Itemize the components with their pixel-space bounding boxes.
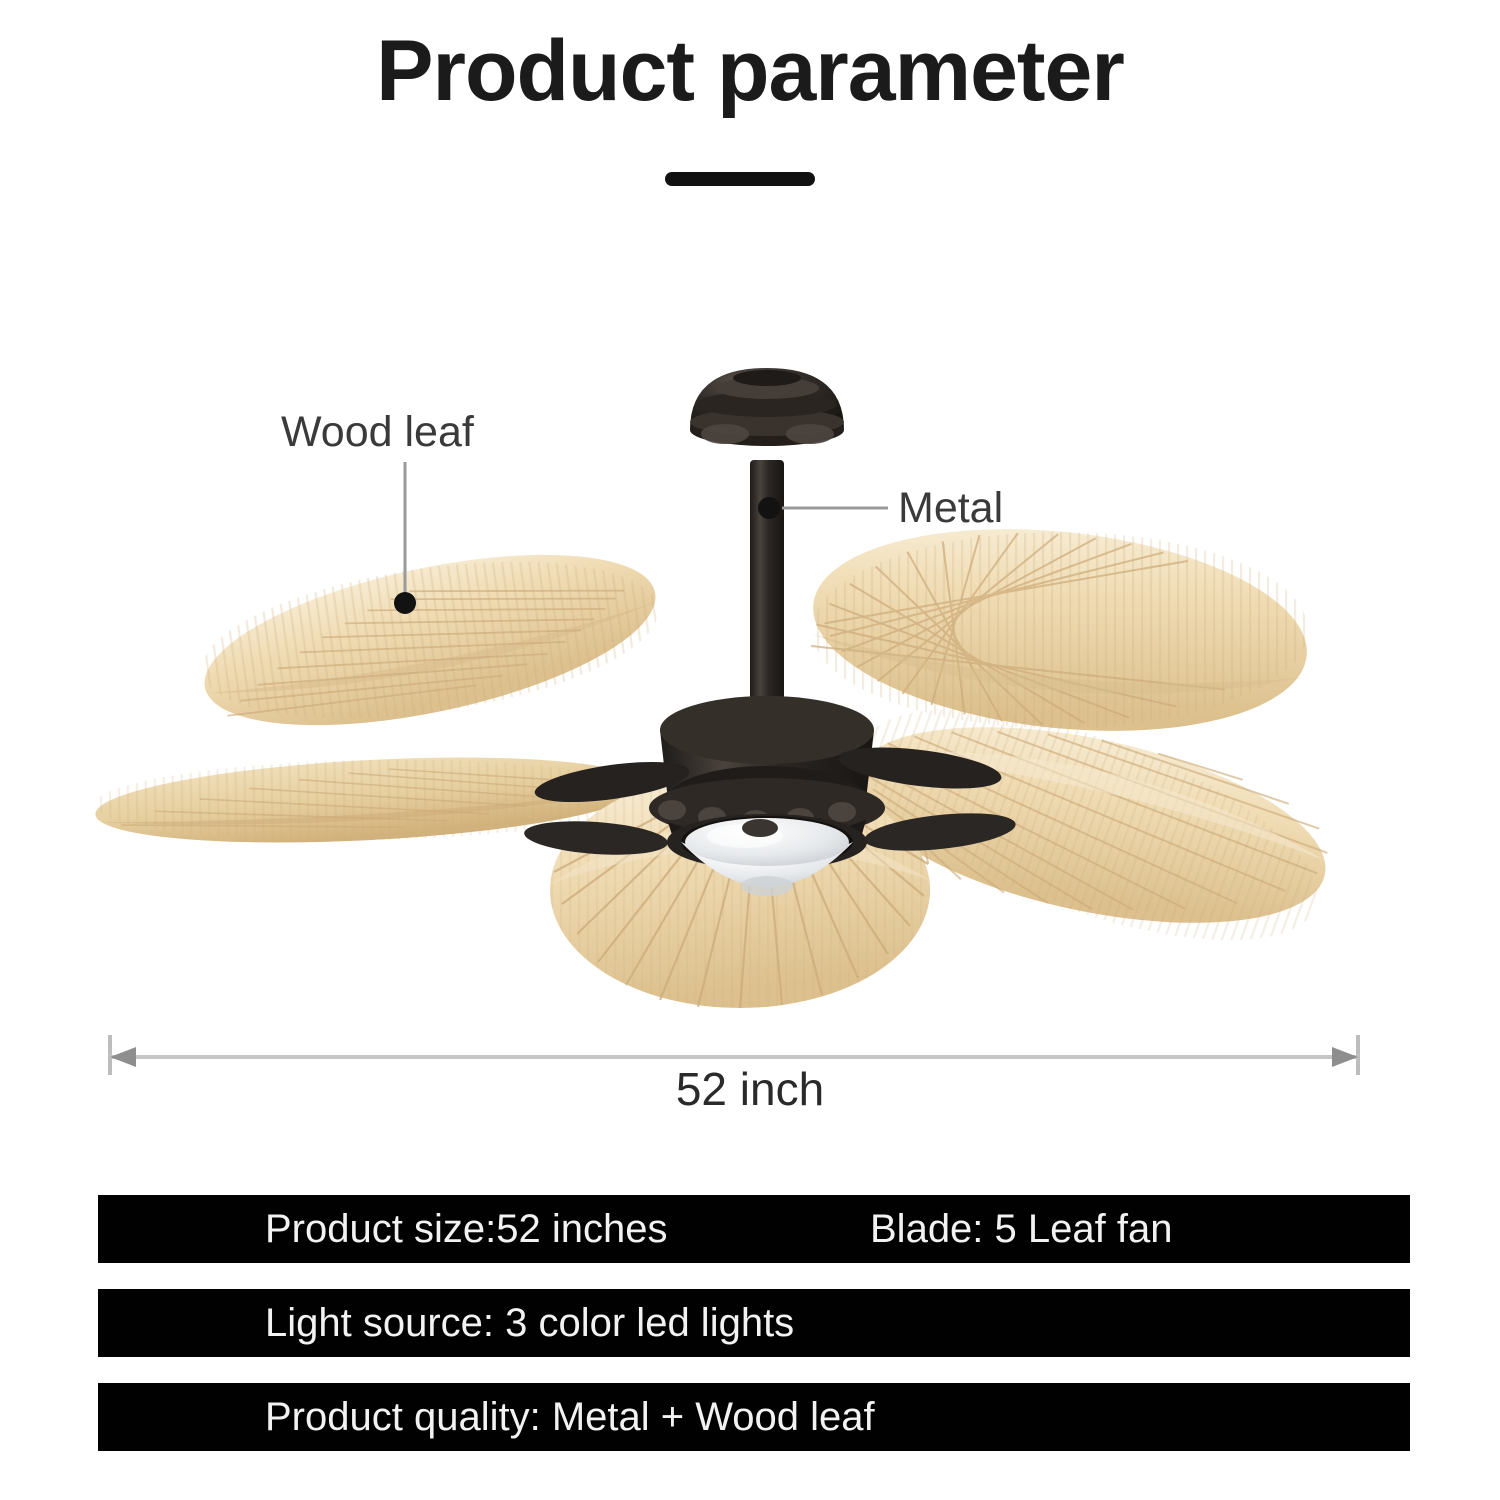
spec-row-product-quality: Product quality: Metal + Wood leaf xyxy=(98,1383,1410,1451)
product-illustration xyxy=(0,330,1500,1030)
spec-text-blade: Blade: 5 Leaf fan xyxy=(870,1207,1172,1252)
spec-row-product-size: Product size:52 inches Blade: 5 Leaf fan xyxy=(98,1195,1410,1263)
callout-label-wood-leaf: Wood leaf xyxy=(281,408,474,457)
page-title: Product parameter xyxy=(0,24,1500,119)
dimension-label: 52 inch xyxy=(0,1062,1500,1116)
spec-text-product-quality: Product quality: Metal + Wood leaf xyxy=(265,1395,875,1440)
spec-text-product-size: Product size:52 inches xyxy=(265,1207,667,1252)
ceiling-fan-graphic xyxy=(0,330,1500,1030)
fan-blade-upper-left xyxy=(182,505,677,774)
callout-label-metal: Metal xyxy=(898,484,1003,533)
spec-row-light-source: Light source: 3 color led lights xyxy=(98,1289,1410,1357)
spec-text-light-source: Light source: 3 color led lights xyxy=(265,1301,794,1346)
title-underline-accent xyxy=(665,172,815,186)
